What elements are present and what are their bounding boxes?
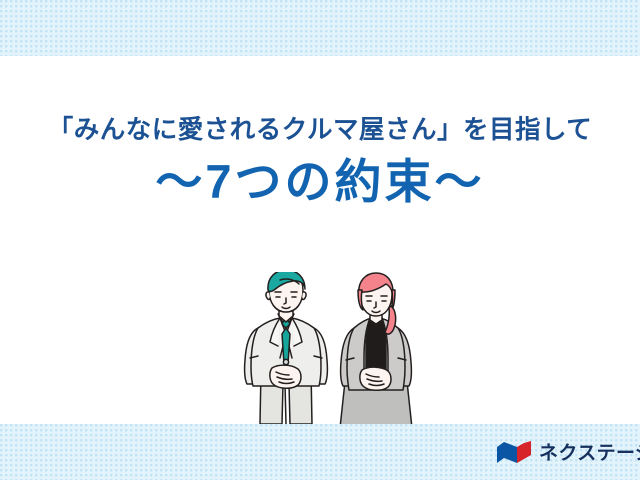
brand-name: ネクステージ <box>539 444 640 463</box>
top-dot-band <box>0 0 640 56</box>
nextage-n-mark-icon <box>496 440 532 466</box>
headline-block: 「みんなに愛されるクルマ屋さん」を目指して 〜7つの約束〜 <box>0 118 640 205</box>
female-staff-figure <box>340 273 412 424</box>
slide-canvas: 「みんなに愛されるクルマ屋さん」を目指して 〜7つの約束〜 <box>0 0 640 480</box>
brand-logo: ネクステージ <box>496 436 640 470</box>
headline-line-1: 「みんなに愛されるクルマ屋さん」を目指して <box>0 118 640 144</box>
male-staff-figure <box>245 272 328 424</box>
staff-illustration <box>236 272 426 424</box>
headline-line-2: 〜7つの約束〜 <box>0 158 640 205</box>
